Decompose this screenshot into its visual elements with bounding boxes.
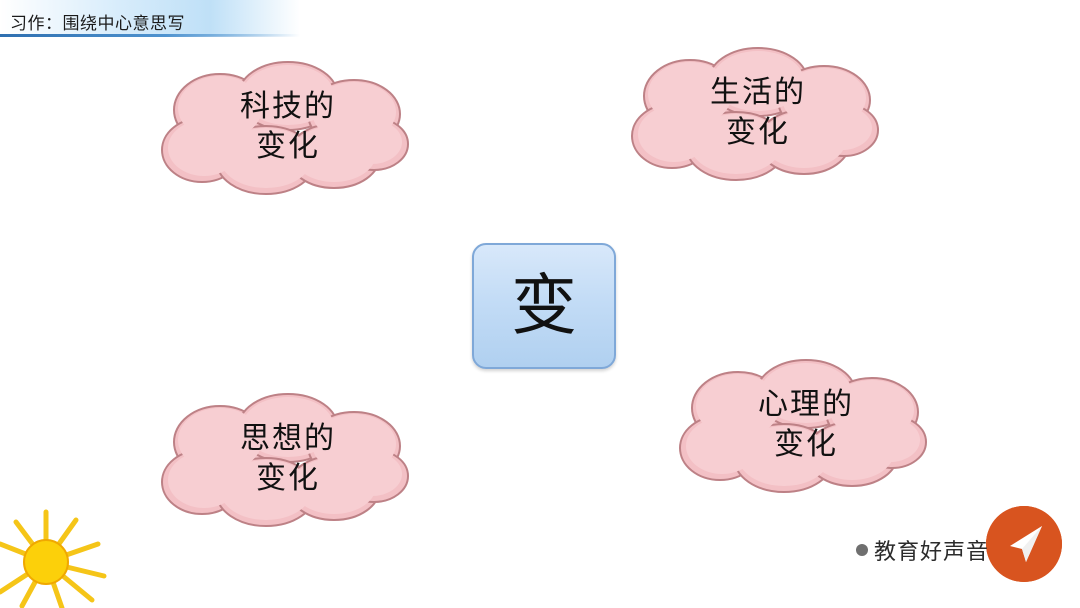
watermark-dot-icon [856, 544, 868, 556]
cloud-node-thought: 思想的 变化 [158, 390, 418, 528]
sun-icon [0, 500, 120, 608]
cloud-label-line1: 科技的 [240, 87, 336, 128]
cloud-label-mind: 心理的 变化 [676, 356, 936, 494]
badge-circle [986, 506, 1062, 582]
cloud-label-line1: 生活的 [710, 73, 806, 114]
watermark-text: 教育好声音 [874, 534, 989, 566]
center-topic-box: 变 [472, 243, 616, 369]
cloud-label-line1: 思想的 [240, 419, 336, 460]
cloud-label-life: 生活的 变化 [628, 44, 888, 182]
center-topic-label: 变 [511, 273, 577, 339]
slide-canvas: 习作：围绕中心意思写 科技的 [0, 0, 1080, 608]
cloud-label-thought: 思想的 变化 [158, 390, 418, 528]
cloud-label-line2: 变化 [256, 459, 320, 500]
cloud-label-line2: 变化 [256, 127, 320, 168]
cloud-node-life: 生活的 变化 [628, 44, 888, 182]
cloud-node-mind: 心理的 变化 [676, 356, 936, 494]
watermark: 教育好声音 [856, 528, 989, 572]
header-underline [0, 34, 300, 37]
page-title: 习作：围绕中心意思写 [10, 9, 185, 34]
cloud-label-line1: 心理的 [758, 385, 854, 426]
cloud-label-line2: 变化 [726, 113, 790, 154]
cloud-node-tech: 科技的 变化 [158, 58, 418, 196]
cloud-label-tech: 科技的 变化 [158, 58, 418, 196]
cloud-label-line2: 变化 [774, 425, 838, 466]
